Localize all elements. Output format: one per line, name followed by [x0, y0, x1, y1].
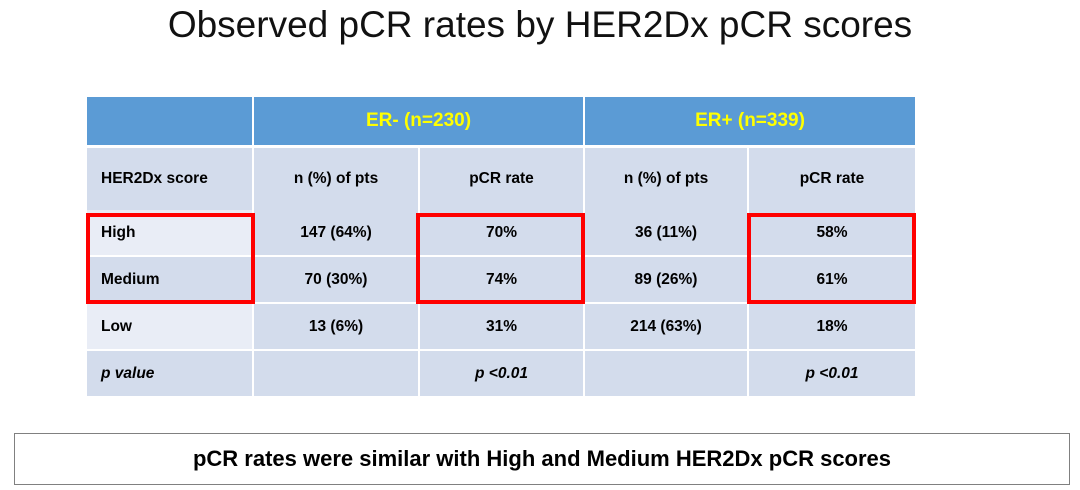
conclusion-banner: pCR rates were similar with High and Med… [14, 433, 1070, 485]
table-group-header-row: ER- (n=230) ER+ (n=339) [87, 97, 915, 147]
column-header-er-pos-pcr: pCR rate [748, 147, 915, 211]
group-header-blank [87, 97, 253, 147]
cell-pvalue-er-neg-n [253, 350, 419, 396]
cell-score-label: High [87, 210, 253, 256]
conclusion-banner-text: pCR rates were similar with High and Med… [193, 446, 891, 472]
group-header-er-positive: ER+ (n=339) [584, 97, 915, 147]
cell-er-neg-n: 70 (30%) [253, 256, 419, 303]
cell-pvalue-er-neg-pcr: p <0.01 [419, 350, 584, 396]
page-title: Observed pCR rates by HER2Dx pCR scores [0, 4, 1080, 46]
cell-er-neg-pcr: 31% [419, 303, 584, 350]
cell-score-label: Medium [87, 256, 253, 303]
table-pvalue-row: p value p <0.01 p <0.01 [87, 350, 915, 396]
cell-pvalue-er-pos-pcr: p <0.01 [748, 350, 915, 396]
pcr-rates-table: ER- (n=230) ER+ (n=339) HER2Dx score n (… [87, 97, 915, 396]
cell-er-neg-pcr: 70% [419, 210, 584, 256]
cell-score-label: Low [87, 303, 253, 350]
column-header-er-neg-pcr: pCR rate [419, 147, 584, 211]
table-sub-header-row: HER2Dx score n (%) of pts pCR rate n (%)… [87, 147, 915, 211]
table-row: High 147 (64%) 70% 36 (11%) 58% [87, 210, 915, 256]
group-header-er-negative: ER- (n=230) [253, 97, 584, 147]
cell-pvalue-er-pos-n [584, 350, 748, 396]
cell-er-neg-pcr: 74% [419, 256, 584, 303]
table: ER- (n=230) ER+ (n=339) HER2Dx score n (… [87, 97, 915, 396]
cell-er-pos-pcr: 58% [748, 210, 915, 256]
cell-er-neg-n: 13 (6%) [253, 303, 419, 350]
column-header-score: HER2Dx score [87, 147, 253, 211]
cell-er-pos-n: 89 (26%) [584, 256, 748, 303]
cell-pvalue-label: p value [87, 350, 253, 396]
cell-er-pos-n: 36 (11%) [584, 210, 748, 256]
cell-er-neg-n: 147 (64%) [253, 210, 419, 256]
table-row: Medium 70 (30%) 74% 89 (26%) 61% [87, 256, 915, 303]
cell-er-pos-pcr: 61% [748, 256, 915, 303]
cell-er-pos-pcr: 18% [748, 303, 915, 350]
column-header-er-neg-n: n (%) of pts [253, 147, 419, 211]
column-header-er-pos-n: n (%) of pts [584, 147, 748, 211]
table-row: Low 13 (6%) 31% 214 (63%) 18% [87, 303, 915, 350]
cell-er-pos-n: 214 (63%) [584, 303, 748, 350]
